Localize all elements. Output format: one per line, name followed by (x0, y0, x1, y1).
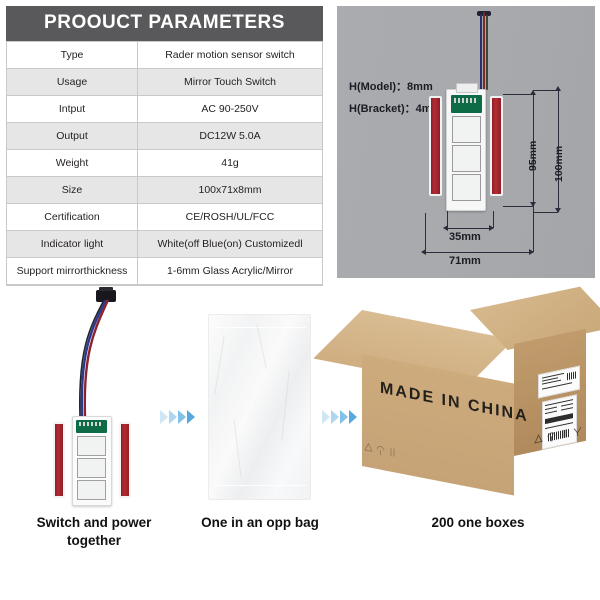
carton-box: MADE IN CHINA (352, 306, 588, 484)
bag-wrinkle (281, 371, 289, 441)
adhesive-strip-left (429, 96, 442, 196)
dim-71-ext-left (425, 213, 426, 252)
box-front-face (362, 354, 514, 496)
recycle-icon (534, 431, 543, 444)
step-3-caption: 200 one boxes (398, 514, 558, 532)
chevron-right-icon (169, 410, 177, 424)
dim-35-label: 35mm (449, 231, 481, 243)
dim-95-tick-top (503, 94, 533, 95)
touch-panel-3 (452, 174, 481, 201)
pcb-pins (79, 422, 103, 426)
height-model-label: H(Model)：8mm (349, 78, 433, 94)
spec-value: Rader motion sensor switch (138, 42, 323, 69)
wire-red (483, 12, 485, 90)
table-row: Intput AC 90-250V (7, 96, 323, 123)
chevron-right-icon (160, 410, 168, 424)
cable-wires (72, 298, 118, 420)
spec-label: Output (7, 123, 138, 150)
spec-label: Intput (7, 96, 138, 123)
pcb-pins (454, 98, 478, 103)
touch-panel-2 (77, 458, 106, 478)
table-row: Certification CE/ROSH/UL/FCC (7, 204, 323, 231)
table-row: Indicator light White(off Blue(on) Custo… (7, 231, 323, 258)
table-row: Output DC12W 5.0A (7, 123, 323, 150)
spec-label: Support mirrorthickness (7, 258, 138, 285)
dim-35-ext-left (447, 211, 448, 228)
chevron-right-icon (331, 410, 339, 424)
table-row: Support mirrorthickness 1-6mm Glass Acry… (7, 258, 323, 285)
bag-wrinkle (214, 335, 224, 394)
spec-value: 41g (138, 150, 323, 177)
switch-device-photo (53, 416, 131, 506)
spec-value: White(off Blue(on) Customizedl (138, 231, 323, 258)
umbrella-icon (376, 442, 385, 455)
umbrella-icon (547, 428, 556, 441)
product-spec-page: PROOUCT PARAMETERS Type Rader motion sen… (0, 0, 600, 600)
chevron-right-icon (340, 410, 348, 424)
spec-table: Type Rader motion sensor switch Usage Mi… (6, 41, 323, 285)
step-1-caption: Switch and power together (14, 514, 174, 550)
fragile-icon (560, 426, 569, 439)
height-bracket-label: H(Bracket)：4mm (349, 100, 441, 116)
bag-wrinkle (256, 323, 267, 368)
spec-value: CE/ROSH/UL/FCC (138, 204, 323, 231)
table-row: Weight 41g (7, 150, 323, 177)
fragile-icon (388, 444, 397, 457)
dim-100-tick-top (533, 90, 558, 91)
chevron-right-icon (178, 410, 186, 424)
table-row: Usage Mirror Touch Switch (7, 69, 323, 96)
dim-35-ext-right (493, 211, 494, 228)
chevron-right-icon (322, 410, 330, 424)
bag-bottom-seam (213, 485, 306, 486)
chevron-right-icon (187, 410, 195, 424)
spec-label: Type (7, 42, 138, 69)
touch-panel-1 (452, 116, 481, 143)
step-2-caption: One in an opp bag (186, 514, 334, 532)
recycle-icon (364, 440, 373, 453)
touch-panel-2 (452, 145, 481, 172)
dim-71-ext-right (533, 206, 534, 252)
bag-wrinkle (233, 419, 241, 477)
bag-seal-seam (213, 327, 306, 328)
table-row: Type Rader motion sensor switch (7, 42, 323, 69)
spec-table-title: PROOUCT PARAMETERS (6, 6, 323, 41)
dimension-diagram-panel: H(Model)：8mm H(Bracket)：4mm 95mm (337, 6, 595, 278)
packaging-flow-section: MADE IN CHINA (0, 288, 600, 600)
spec-value: 100x71x8mm (138, 177, 323, 204)
dim-100-tick-bottom (533, 212, 558, 213)
power-cable-assembly (72, 290, 118, 418)
dim-35-line (447, 228, 493, 229)
flow-arrow-1 (160, 410, 195, 424)
switch-device-diagram (429, 89, 503, 211)
spec-value: DC12W 5.0A (138, 123, 323, 150)
dim-95-tick-bottom (503, 206, 533, 207)
dim-71-label: 71mm (449, 255, 481, 267)
dim-100-label: 100mm (553, 146, 565, 182)
dim-95-label: 95mm (527, 141, 539, 171)
spec-label: Usage (7, 69, 138, 96)
adhesive-strip-right (490, 96, 503, 196)
spec-value: AC 90-250V (138, 96, 323, 123)
spec-table-section: PROOUCT PARAMETERS Type Rader motion sen… (6, 6, 323, 289)
this-way-up-icon (573, 423, 582, 436)
opp-plastic-bag (208, 314, 311, 500)
dim-71-line (425, 252, 533, 253)
spec-value: Mirror Touch Switch (138, 69, 323, 96)
wire-blue (480, 14, 482, 90)
spec-label: Weight (7, 150, 138, 177)
spec-value: 1-6mm Glass Acrylic/Mirror (138, 258, 323, 285)
spec-label: Certification (7, 204, 138, 231)
touch-panel-3 (77, 480, 106, 500)
adhesive-strip-left (53, 422, 65, 498)
wire-green (486, 15, 488, 90)
spec-label: Indicator light (7, 231, 138, 258)
connector-socket (456, 83, 478, 93)
table-row: Size 100x71x8mm (7, 177, 323, 204)
spec-label: Size (7, 177, 138, 204)
adhesive-strip-right (119, 422, 131, 498)
touch-panel-1 (77, 436, 106, 456)
